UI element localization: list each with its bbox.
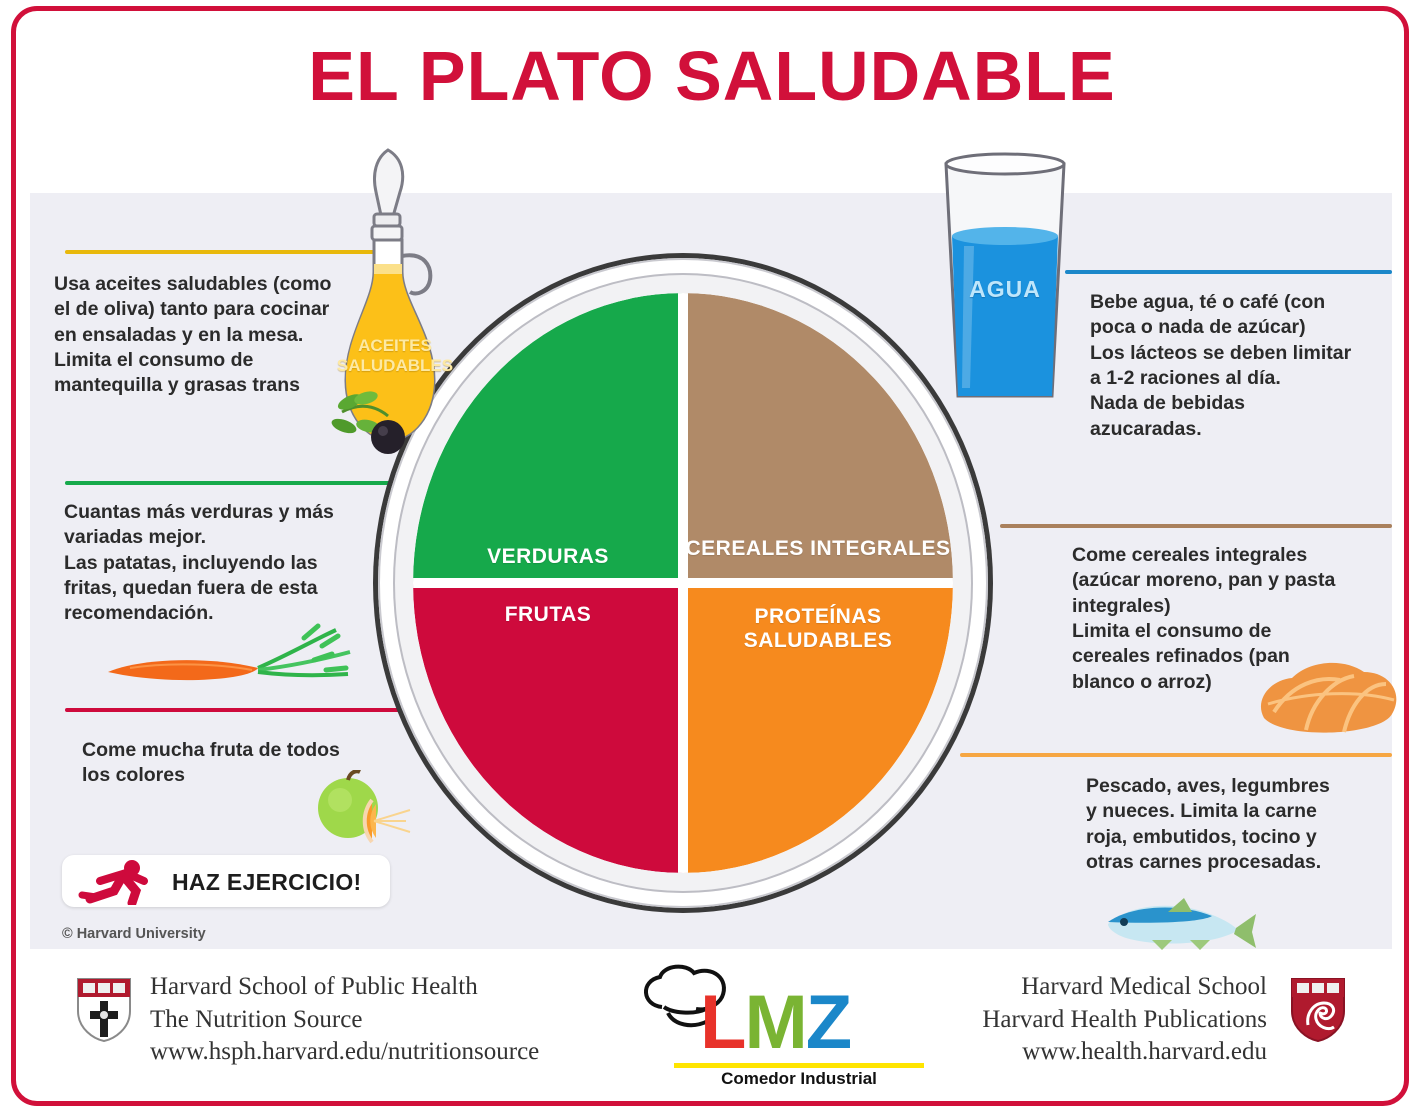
harvard-public-health-shield-icon	[76, 977, 132, 1043]
connector-line-water	[1065, 270, 1392, 274]
running-person-icon	[74, 859, 164, 905]
note-healthy-oils: Usa aceites saludables (como el de oliva…	[54, 272, 384, 399]
plate-quadrant-fruits[interactable]: FRUTAS	[413, 583, 683, 873]
note-proteins: Pescado, aves, legumbres y nueces. Limit…	[1086, 774, 1392, 875]
healthy-plate-diagram: VERDURAS CEREALES INTEGRALES FRUTAS PROT…	[373, 253, 993, 913]
apple-orange-icon	[310, 770, 420, 848]
lmz-letters: LMZ	[700, 985, 850, 1061]
plate-quadrant-proteins[interactable]: PROTEÍNAS SALUDABLES	[683, 583, 953, 873]
footer-left-text: Harvard School of Public Health The Nutr…	[150, 971, 539, 1069]
lmz-letter-z: Z	[806, 980, 850, 1065]
bread-loaf-icon	[1248, 640, 1408, 750]
exercise-callout[interactable]: HAZ EJERCICIO!	[62, 855, 390, 907]
plate-quadrant-grains[interactable]: CEREALES INTEGRALES	[683, 293, 953, 583]
footer: Harvard School of Public Health The Nutr…	[30, 955, 1392, 1095]
harvard-medical-school-shield-icon	[1290, 977, 1346, 1043]
lmz-letter-m: M	[744, 980, 805, 1065]
page-title: EL PLATO SALUDABLE	[0, 36, 1424, 116]
footer-right-text: Harvard Medical School Harvard Health Pu…	[982, 971, 1267, 1069]
note-water: Bebe agua, té o café (con poca o nada de…	[1090, 290, 1390, 442]
lmz-subtitle: Comedor Industrial	[674, 1069, 924, 1089]
exercise-label: HAZ EJERCICIO!	[172, 869, 362, 896]
lmz-letter-l: L	[700, 980, 744, 1065]
carrot-icon	[100, 620, 360, 700]
fish-icon	[1098, 892, 1258, 952]
note-vegetables: Cuantas más verduras y más variadas mejo…	[64, 500, 394, 627]
water-glass-label: AGUA	[930, 276, 1080, 303]
lmz-underline-bar	[674, 1063, 924, 1068]
plate-food-area: VERDURAS CEREALES INTEGRALES FRUTAS PROT…	[413, 293, 953, 873]
copyright-text: © Harvard University	[62, 926, 206, 942]
connector-line-grains	[1000, 524, 1392, 528]
connector-line-proteins	[960, 753, 1392, 757]
plate-divider-horizontal	[413, 578, 953, 588]
water-glass-graphic: AGUA	[930, 150, 1080, 412]
infographic-root: EL PLATO SALUDABLE VERDURAS CEREALES INT…	[0, 0, 1424, 1115]
lmz-logo: LMZ Comedor Industrial	[638, 959, 938, 1089]
